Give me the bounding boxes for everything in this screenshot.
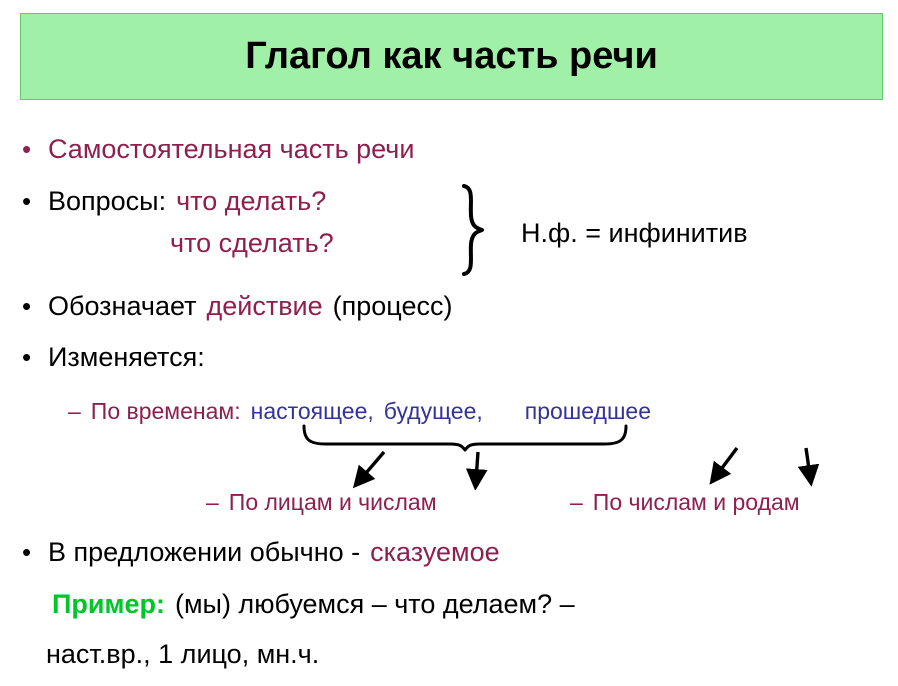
denotes-prefix: Обозначает (48, 291, 196, 322)
predicate-highlight: сказуемое (370, 537, 500, 568)
by-person-and-number-label: По лицам и числам (229, 489, 437, 515)
dash-marker-icon: – (206, 489, 219, 515)
predicate-prefix: В предложении обычно - (48, 537, 360, 568)
bullet-item-denotes-action: • Обозначает действие (процесс) (22, 291, 452, 322)
page-title: Глагол как часть речи (245, 35, 658, 78)
questions-label: Вопросы: (48, 186, 166, 217)
question-imperfective: что делать? (176, 186, 326, 217)
bullet-dot-icon: • (22, 344, 48, 370)
bullet-item-predicate-role: • В предложении обычно - сказуемое (22, 537, 500, 568)
sub-item-by-person-and-number: – По лицам и числам (206, 489, 437, 515)
infinitive-note: Н.ф. = инфинитив (521, 218, 748, 249)
example-text-line-two: наст.вр., 1 лицо, мн.ч. (46, 639, 319, 670)
bullet-dot-icon: • (22, 136, 48, 162)
denotes-highlight-action: действие (206, 291, 322, 322)
arrow-connectors (0, 420, 898, 490)
example-line-one: Пример: (мы) любуемся – что делаем? – (52, 589, 575, 620)
bullet-text-independent-part-of-speech: Самостоятельная часть речи (48, 134, 414, 165)
bullet-item-changes-by: • Изменяется: (22, 342, 205, 373)
bullet-item-independent-part-of-speech: • Самостоятельная часть речи (22, 134, 414, 165)
curly-brace-icon (452, 182, 492, 278)
sub-item-by-number-and-gender: – По числам и родам (570, 489, 800, 515)
bullet-item-questions-second-line: что сделать? (170, 228, 334, 259)
bullet-dot-icon: • (22, 539, 48, 565)
example-label: Пример: (52, 589, 165, 620)
bullet-item-questions: • Вопросы: что делать? (22, 186, 326, 217)
dash-marker-icon: – (570, 489, 583, 515)
slide-title-banner: Глагол как часть речи (20, 13, 883, 100)
example-text-line-one: (мы) любуемся – что делаем? – (175, 589, 575, 620)
bullet-dot-icon: • (22, 293, 48, 319)
example-line-two: наст.вр., 1 лицо, мн.ч. (46, 639, 319, 670)
changes-label: Изменяется: (48, 342, 205, 373)
question-perfective: что сделать? (170, 228, 334, 259)
by-number-and-gender-label: По числам и родам (593, 489, 800, 515)
denotes-suffix-process: (процесс) (333, 291, 453, 322)
bullet-dot-icon: • (22, 188, 48, 214)
